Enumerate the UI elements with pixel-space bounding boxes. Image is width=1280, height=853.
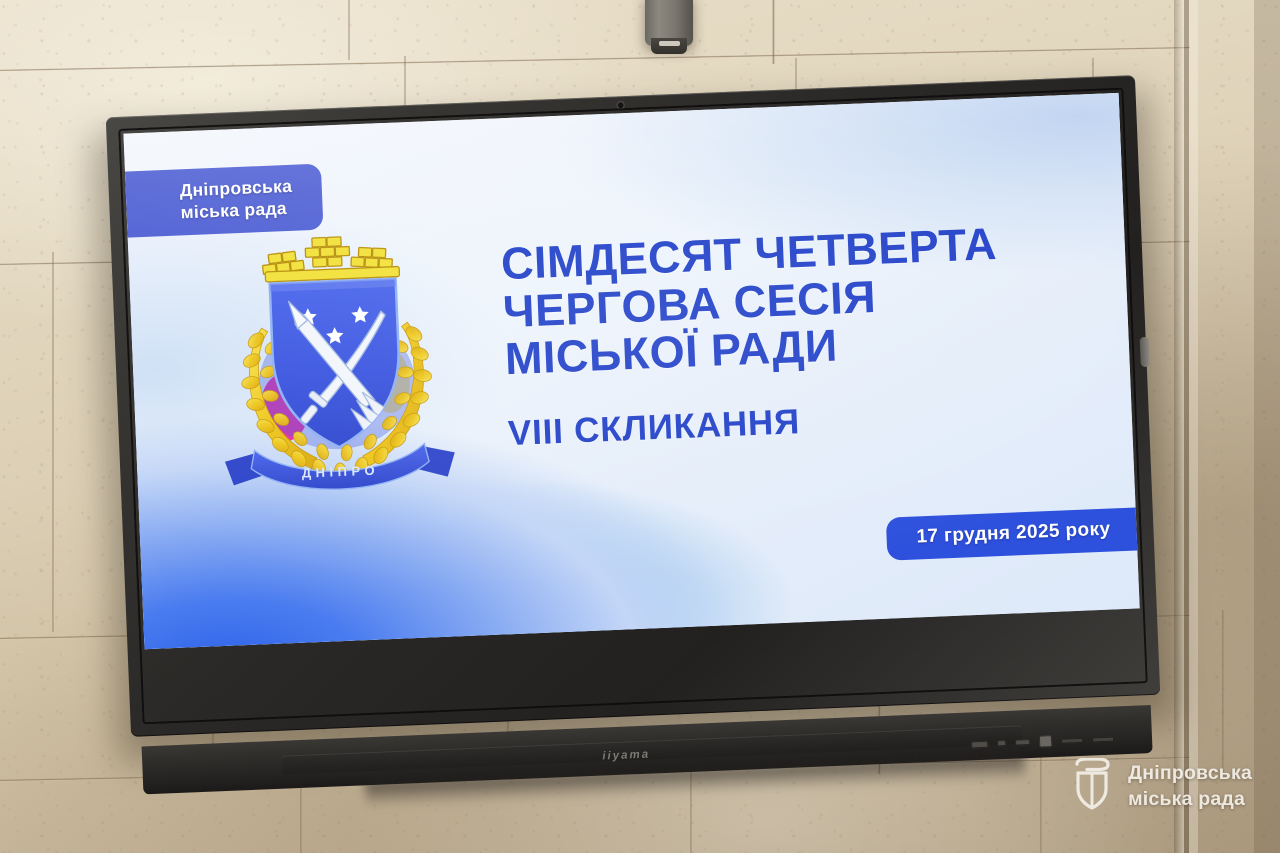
- slide-title: СІМДЕСЯТ ЧЕТВЕРТА ЧЕРГОВА СЕСІЯ МІСЬКОЇ …: [500, 216, 1105, 384]
- port-label-icon: [1092, 736, 1114, 742]
- wall-pilaster-edge: [1174, 0, 1184, 853]
- camera-sensor-icon: [618, 102, 624, 108]
- display-screen[interactable]: Дніпровська міська рада: [123, 93, 1139, 649]
- ceiling-mount-bracket-slot: [659, 41, 680, 46]
- coat-of-arms-svg: ДНІПРО: [206, 228, 467, 508]
- ribbon: ДНІПРО: [225, 442, 457, 493]
- wall-seam-v: [1040, 754, 1042, 853]
- lan-port-icon[interactable]: [1039, 735, 1052, 748]
- organisation-badge-line2: міська рада: [180, 197, 293, 224]
- wall-pilaster: [1184, 0, 1280, 853]
- wall-seam-v: [348, 0, 350, 60]
- watermark-text: Дніпровська міська рада: [1128, 761, 1252, 812]
- aux-port-icon[interactable]: [997, 740, 1006, 746]
- watermark-line2: міська рада: [1128, 787, 1252, 812]
- watermark: Дніпровська міська рада: [1070, 758, 1252, 815]
- wall-seam-v: [52, 252, 54, 632]
- mural-crown-icon: [261, 235, 400, 283]
- display-bezel: Дніпровська міська рада: [106, 75, 1161, 737]
- wall-mounted-display[interactable]: Дніпровська міська рада: [106, 75, 1161, 737]
- ribbon-text: ДНІПРО: [302, 462, 380, 480]
- wall-seam-v: [772, 0, 775, 64]
- dnipro-coat-of-arms: ДНІПРО: [206, 228, 467, 508]
- port-label-icon: [1061, 737, 1083, 743]
- hdmi-port-icon[interactable]: [1015, 739, 1030, 746]
- display-brand-logo: iiyama: [602, 749, 650, 763]
- usb-port-icon[interactable]: [971, 740, 988, 748]
- shield-logo-icon: [1070, 758, 1114, 815]
- organisation-badge: Дніпровська міська рада: [125, 164, 324, 238]
- display-power-button[interactable]: [1140, 337, 1150, 367]
- watermark-line1: Дніпровська: [1128, 761, 1252, 786]
